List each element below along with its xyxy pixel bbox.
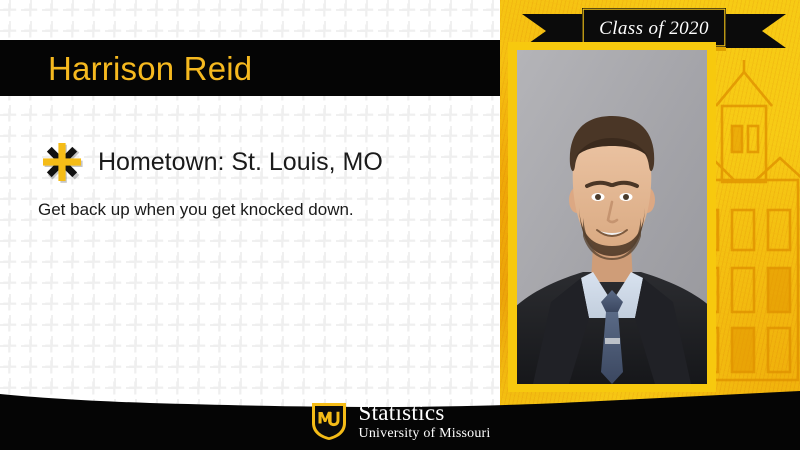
hometown-row: Hometown: St. Louis, MO <box>40 140 383 184</box>
footer-university: University of Missouri <box>359 427 491 441</box>
mu-shield-icon <box>310 401 348 441</box>
portrait-photo <box>517 50 707 384</box>
footer-bar: Statistics University of Missouri <box>0 380 800 450</box>
name-title-bar: Harrison Reid <box>0 40 500 96</box>
footer-text-block: Statistics University of Missouri <box>359 401 491 441</box>
portrait-photo-frame <box>508 42 716 392</box>
footer-department: Statistics <box>359 401 491 424</box>
footer-brand: Statistics University of Missouri <box>0 392 800 450</box>
graduate-portrait-illustration <box>517 50 707 384</box>
page-title: Harrison Reid <box>48 52 252 85</box>
quote-text: Get back up when you get knocked down. <box>38 200 354 220</box>
asterisk-starburst-icon <box>40 140 84 184</box>
hometown-label: Hometown: St. Louis, MO <box>98 150 383 175</box>
slide-canvas: Class of 2020 <box>0 0 800 450</box>
